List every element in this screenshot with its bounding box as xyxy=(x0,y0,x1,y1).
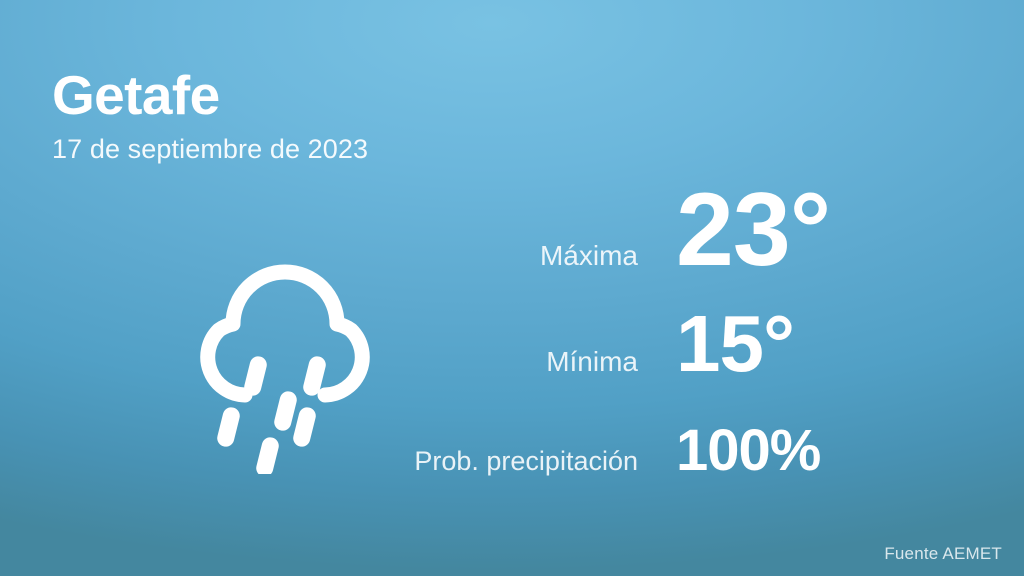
rain-cloud-icon xyxy=(176,252,394,474)
stat-label-minima: Mínima xyxy=(404,346,676,378)
stat-label-maxima: Máxima xyxy=(404,240,676,272)
weather-forecast-card: Getafe 17 de septiembre de 2023 Máxima 2… xyxy=(0,0,1024,576)
stat-row-precipitation: Prob. precipitación 100% xyxy=(404,422,949,496)
stat-value-minima: 15° xyxy=(676,304,794,384)
header-block: Getafe 17 de septiembre de 2023 xyxy=(52,64,368,166)
forecast-date: 17 de septiembre de 2023 xyxy=(52,132,368,166)
stat-label-precipitation: Prob. precipitación xyxy=(404,446,676,477)
stats-list: Máxima 23° Mínima 15° Prob. precipitació… xyxy=(404,178,949,496)
stat-row-maxima: Máxima 23° xyxy=(404,178,949,304)
city-name: Getafe xyxy=(52,64,368,126)
stat-value-maxima: 23° xyxy=(676,178,830,282)
source-credit: Fuente AEMET xyxy=(884,544,1002,564)
stat-row-minima: Mínima 15° xyxy=(404,304,949,422)
stat-value-precipitation: 100% xyxy=(676,422,820,480)
